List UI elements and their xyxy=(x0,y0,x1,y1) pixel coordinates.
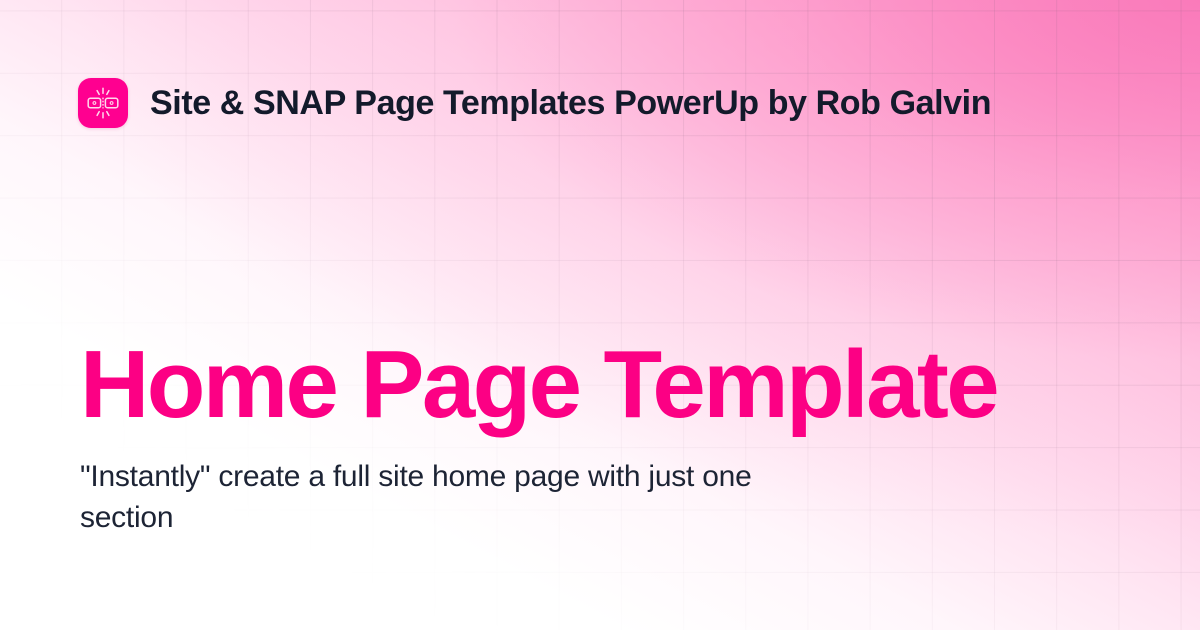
og-card: Site & SNAP Page Templates PowerUp by Ro… xyxy=(0,0,1200,630)
header-title: Site & SNAP Page Templates PowerUp by Ro… xyxy=(150,86,991,120)
page-title: Home Page Template xyxy=(80,336,1140,435)
header: Site & SNAP Page Templates PowerUp by Ro… xyxy=(78,78,991,128)
page-subtitle: "Instantly" create a full site home page… xyxy=(80,457,840,539)
main-content: Home Page Template "Instantly" create a … xyxy=(80,336,1140,538)
snap-template-icon xyxy=(78,78,128,128)
